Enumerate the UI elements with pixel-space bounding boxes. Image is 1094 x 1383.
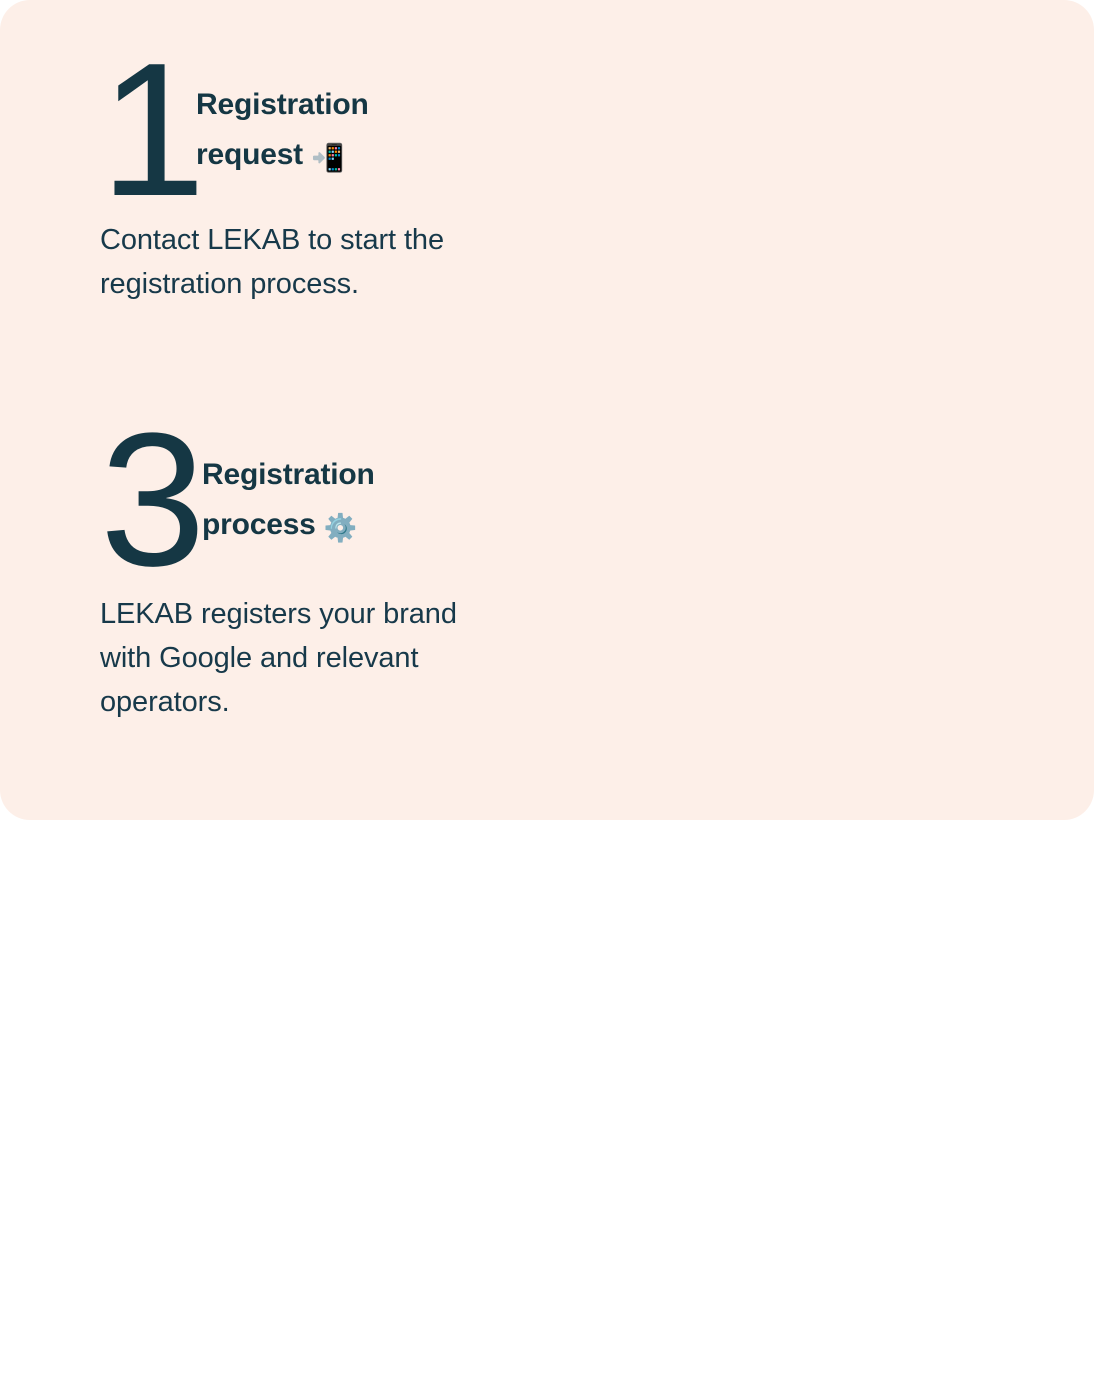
step-header-3: 3 Registration process ⚙️ (100, 426, 470, 574)
step-item-1: 1 Registration request 📲 Contact LEKAB t… (0, 14, 510, 404)
step-title-1: Registration request 📲 (196, 80, 446, 181)
gear-icon: ⚙️ (324, 513, 357, 544)
step-body-1: Contact LEKAB to start the registration … (100, 218, 470, 306)
step-title-3: Registration process ⚙️ (202, 450, 452, 551)
mobile-phone-with-arrow-icon: 📲 (311, 143, 344, 174)
step-item-3: 3 Registration process ⚙️ LEKAB register… (0, 404, 510, 794)
step-number-1: 1 (100, 56, 196, 204)
steps-grid: 1 Registration request 📲 Contact LEKAB t… (0, 0, 1094, 820)
steps-card: 1 Registration request 📲 Contact LEKAB t… (0, 0, 1094, 820)
step-item-4: 4 Go live 🚀 Once approved, your brand an… (510, 404, 1094, 794)
step-body-3: LEKAB registers your brand with Google a… (100, 592, 470, 724)
step-item-2: 2 Service qualification form 📋 Submit de… (510, 14, 1094, 404)
step-number-3: 3 (100, 426, 202, 574)
step-header-1: 1 Registration request 📲 (100, 56, 470, 204)
